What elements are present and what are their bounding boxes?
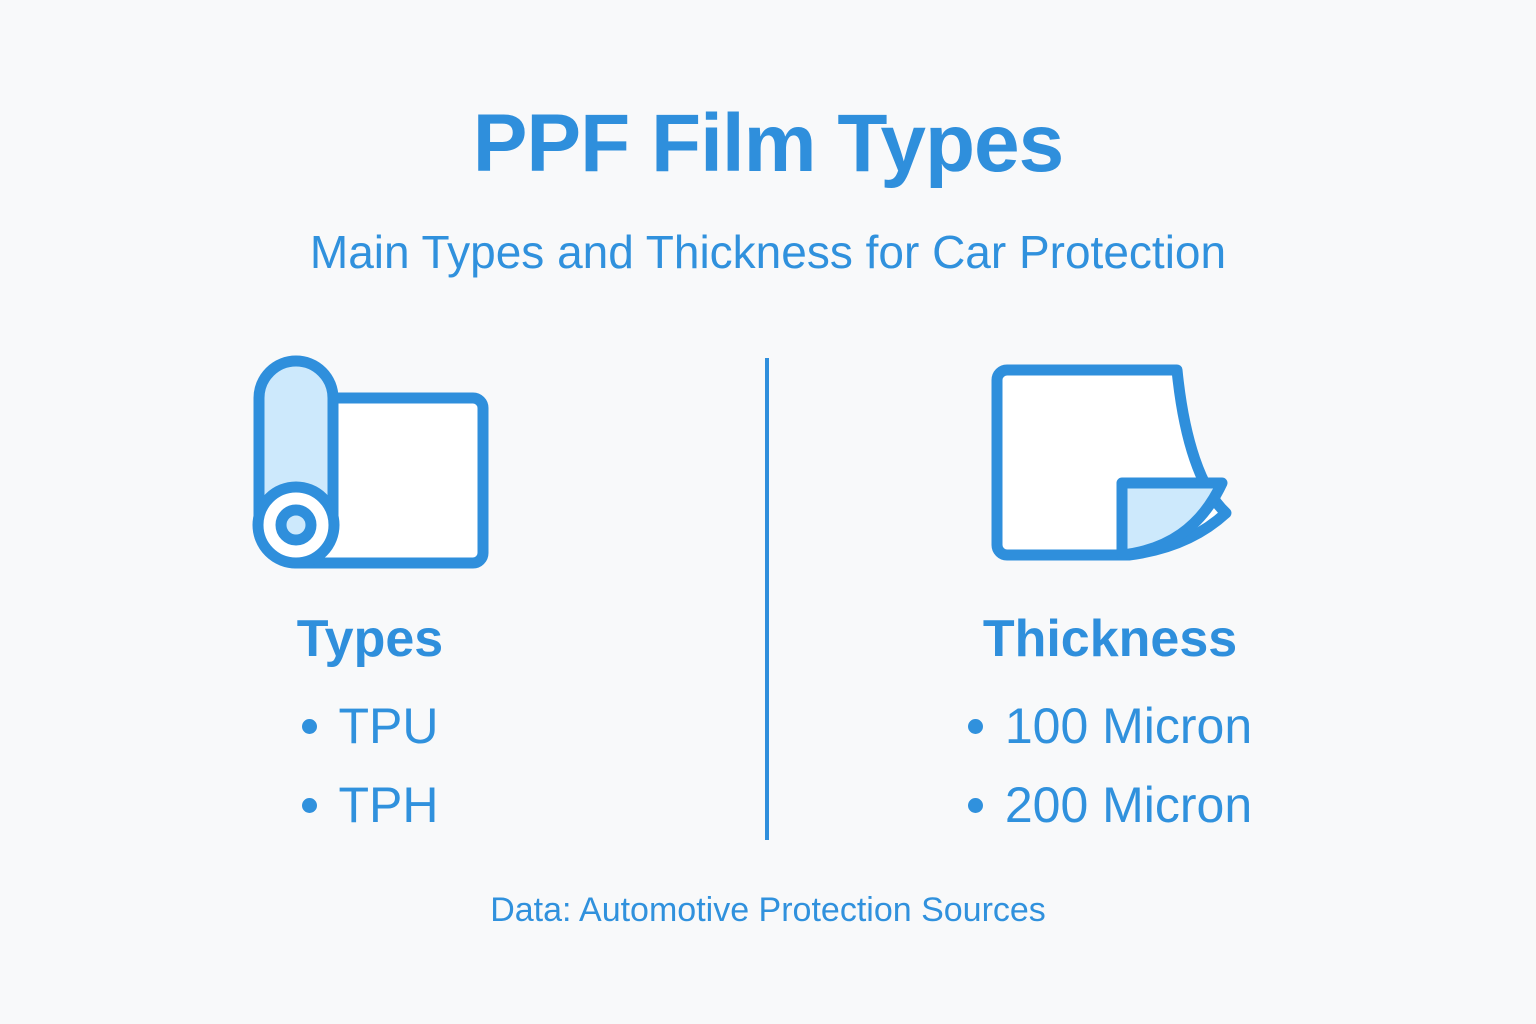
bullet-dot-icon — [968, 719, 983, 734]
peeling-sheet-icon-wrap — [830, 350, 1390, 575]
list-item-label: TPH — [339, 766, 439, 845]
page-subtitle: Main Types and Thickness for Car Protect… — [0, 229, 1536, 275]
bullet-dot-icon — [302, 798, 317, 813]
data-source-caption: Data: Automotive Protection Sources — [0, 893, 1536, 927]
types-list: TPU TPH — [90, 687, 650, 845]
page-title: PPF Film Types — [0, 103, 1536, 185]
column-heading-types: Types — [90, 613, 650, 665]
thickness-list: 100 Micron 200 Micron — [830, 687, 1390, 845]
column-divider — [765, 358, 769, 840]
infographic-canvas: PPF Film Types Main Types and Thickness … — [0, 0, 1536, 1024]
bullet-dot-icon — [968, 798, 983, 813]
list-item-label: 100 Micron — [1005, 687, 1252, 766]
column-thickness: Thickness 100 Micron 200 Micron — [830, 350, 1390, 845]
list-item-label: TPU — [339, 687, 439, 766]
column-types: Types TPU TPH — [90, 350, 650, 845]
film-roll-icon-wrap — [90, 350, 650, 575]
list-item: TPU — [302, 687, 439, 766]
list-item: 200 Micron — [968, 766, 1252, 845]
list-item: 100 Micron — [968, 687, 1252, 766]
peeling-sheet-icon — [979, 350, 1241, 575]
bullet-dot-icon — [302, 719, 317, 734]
film-roll-icon — [241, 350, 499, 575]
list-item-label: 200 Micron — [1005, 766, 1252, 845]
list-item: TPH — [302, 766, 439, 845]
column-heading-thickness: Thickness — [830, 613, 1390, 665]
